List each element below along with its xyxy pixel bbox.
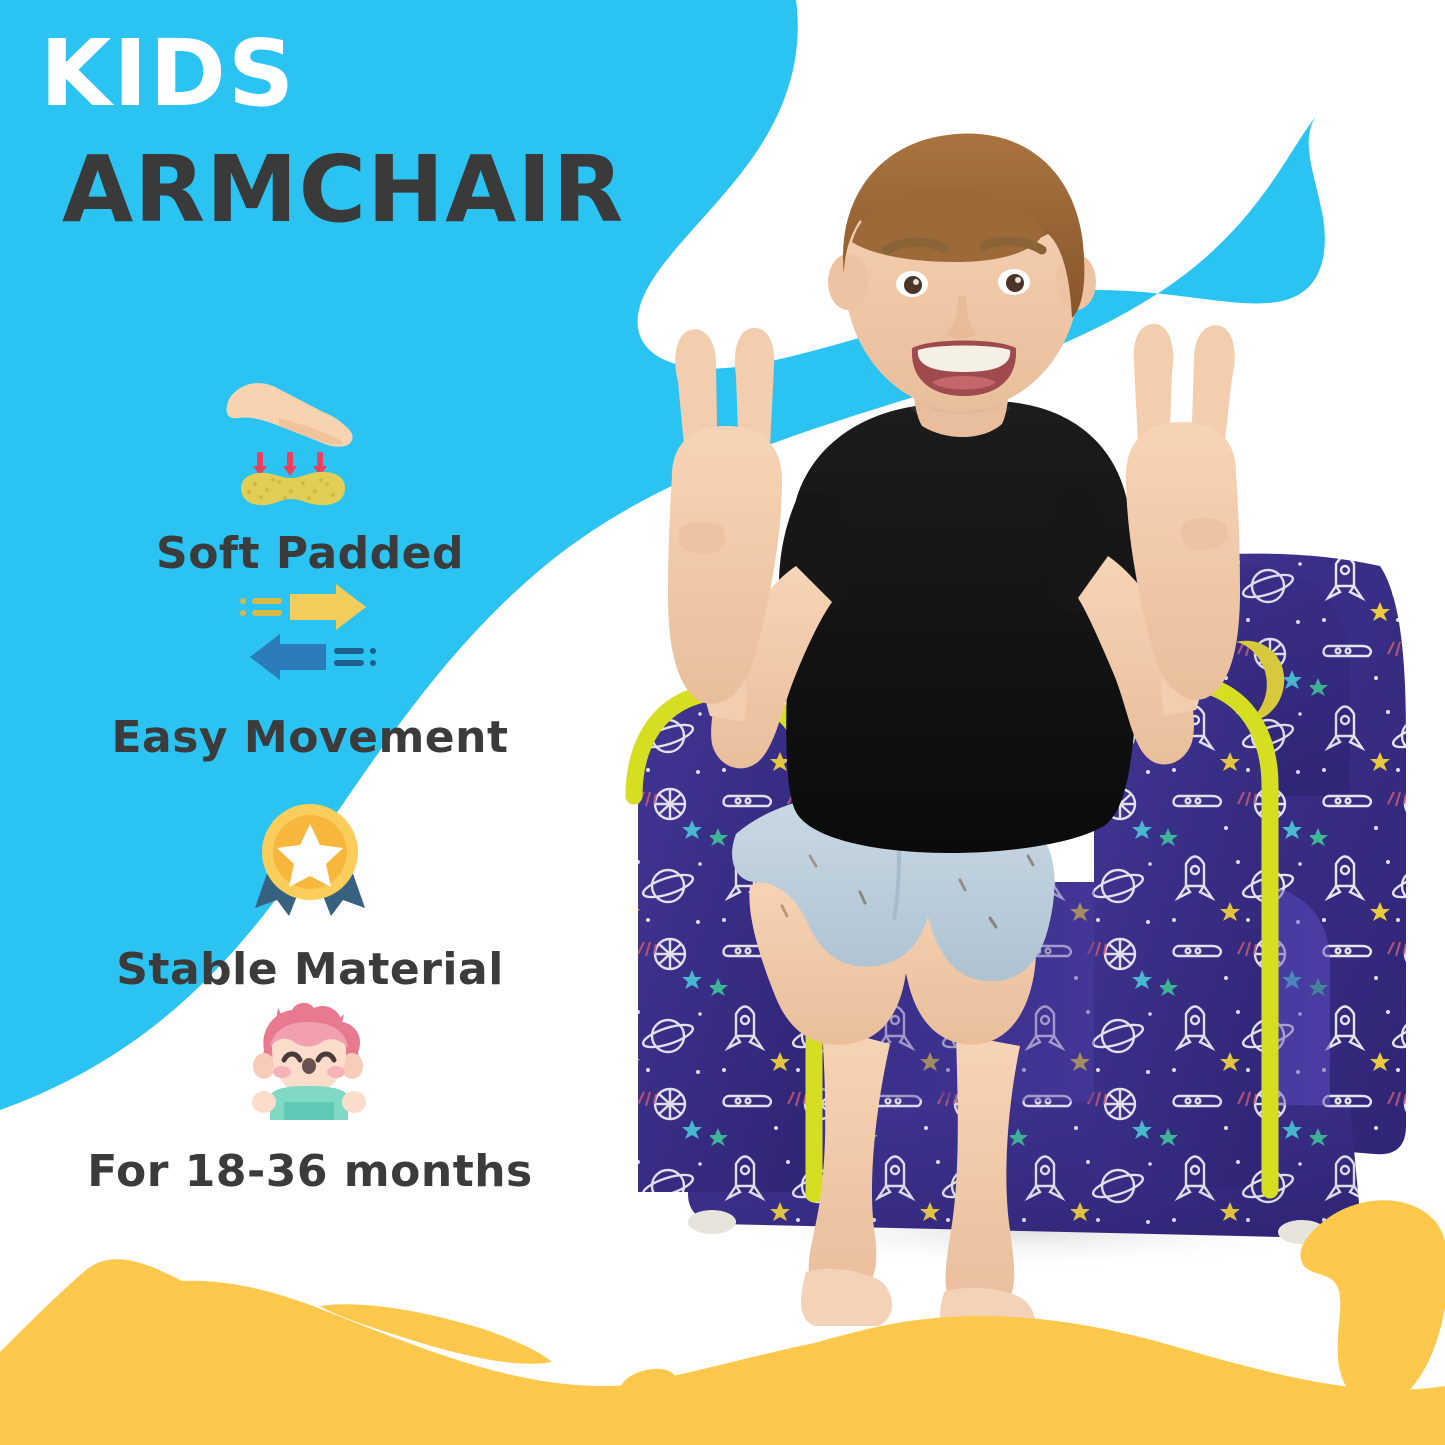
- cheek-right: [327, 1066, 345, 1078]
- pupil-right: [1006, 274, 1024, 292]
- yellow-sliver-left: [110, 1316, 141, 1396]
- feature-label-age-range: For 18-36 months: [0, 1146, 620, 1197]
- feature-item-stable-material: Stable Material: [0, 790, 620, 1002]
- foot-right: [940, 1288, 1035, 1326]
- sponge-shape: [241, 472, 345, 505]
- arrow-left: [250, 634, 326, 680]
- nose: [302, 1058, 316, 1074]
- black-tshirt: [786, 402, 1138, 853]
- feature-label-soft-padded: Soft Padded: [0, 528, 620, 579]
- yellow-dot-accent: [617, 1364, 678, 1405]
- yellow-sliver-accent: [320, 1304, 552, 1364]
- chair-foot-left: [688, 1210, 736, 1234]
- toddler-face-icon: [230, 1002, 390, 1132]
- chair-foot-right: [1278, 1220, 1326, 1244]
- arrow-right: [290, 584, 366, 630]
- feature-item-easy-movement: Easy Movement: [0, 582, 620, 790]
- shirt-front: [284, 1102, 334, 1120]
- yellow-sliver-corner: [59, 1400, 84, 1445]
- page-title-line2: ARMCHAIR: [62, 138, 660, 241]
- ear-left: [253, 1053, 275, 1079]
- title-block: KIDS ARMCHAIR: [40, 28, 660, 241]
- feature-label-easy-movement: Easy Movement: [0, 712, 620, 763]
- page-title-line1: KIDS: [40, 28, 660, 120]
- bidirectional-arrows-icon: [220, 582, 400, 692]
- motion-dashes-top: [240, 598, 282, 616]
- feature-item-age-range: For 18-36 months: [0, 1002, 620, 1212]
- hand-pressing-cushion-icon: [215, 372, 405, 512]
- banner-canvas: KIDS ARMCHAIR: [0, 0, 1445, 1445]
- pupil-left: [904, 276, 922, 294]
- feature-item-soft-padded: Soft Padded: [0, 372, 620, 582]
- feature-label-stable-material: Stable Material: [0, 944, 620, 995]
- product-photo-boy-in-armchair: [560, 96, 1445, 1326]
- ear-left: [828, 254, 868, 310]
- award-medal-star-icon: [235, 790, 385, 930]
- motion-dashes-bottom: [334, 648, 376, 666]
- foot-left: [801, 1269, 892, 1326]
- cheek-left: [273, 1066, 291, 1078]
- hand-left: [252, 1091, 276, 1113]
- feature-list: Soft Padded: [0, 372, 620, 1212]
- hand-right: [342, 1091, 366, 1113]
